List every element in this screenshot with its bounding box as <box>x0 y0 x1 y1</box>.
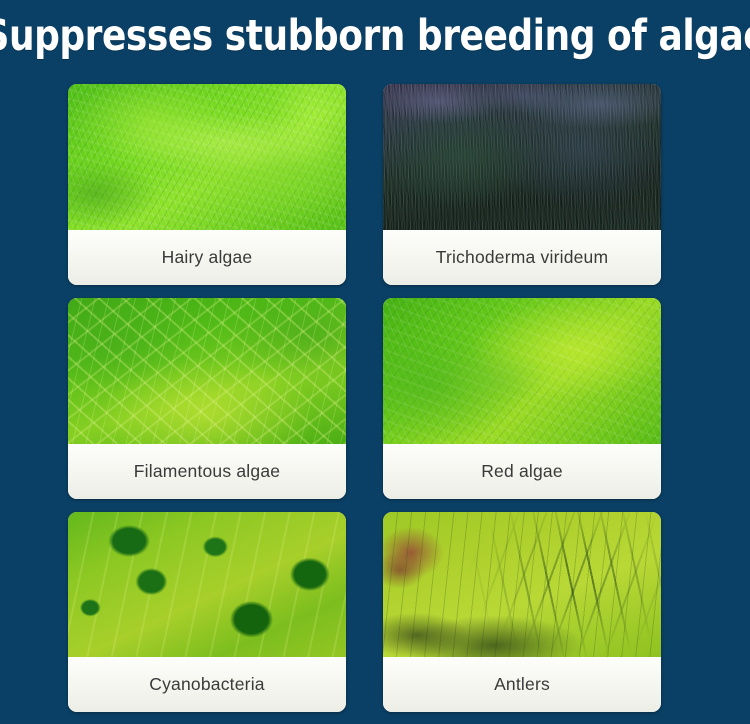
algae-card-cyanobacteria[interactable]: Cyanobacteria <box>68 512 346 712</box>
algae-texture <box>68 512 346 657</box>
antlers-photo <box>383 512 661 657</box>
algae-card-antlers[interactable]: Antlers <box>383 512 661 712</box>
red-algae-photo <box>383 298 661 444</box>
algae-card-label: Cyanobacteria <box>68 657 346 712</box>
algae-card-label: Red algae <box>383 444 661 499</box>
algae-card-filamentous-algae[interactable]: Filamentous algae <box>68 298 346 499</box>
algae-card-label: Hairy algae <box>68 230 346 285</box>
algae-texture <box>383 512 661 657</box>
algae-texture <box>383 298 661 444</box>
algae-texture <box>68 84 346 230</box>
algae-card-label: Filamentous algae <box>68 444 346 499</box>
trichoderma-virideum-photo <box>383 84 661 230</box>
algae-card-grid: Hairy algae Trichoderma virideum Filamen… <box>68 84 662 712</box>
cyanobacteria-photo <box>68 512 346 657</box>
algae-texture <box>68 298 346 444</box>
algae-card-label: Trichoderma virideum <box>383 230 661 285</box>
algae-gallery-page: Suppresses stubborn breeding of algae Ha… <box>0 0 750 724</box>
page-header: Suppresses stubborn breeding of algae <box>0 0 750 72</box>
filamentous-algae-photo <box>68 298 346 444</box>
algae-card-label: Antlers <box>383 657 661 712</box>
algae-texture <box>383 84 661 230</box>
algae-card-red-algae[interactable]: Red algae <box>383 298 661 499</box>
algae-card-hairy-algae[interactable]: Hairy algae <box>68 84 346 285</box>
algae-card-trichoderma-virideum[interactable]: Trichoderma virideum <box>383 84 661 285</box>
page-title: Suppresses stubborn breeding of algae <box>0 13 750 59</box>
hairy-algae-photo <box>68 84 346 230</box>
